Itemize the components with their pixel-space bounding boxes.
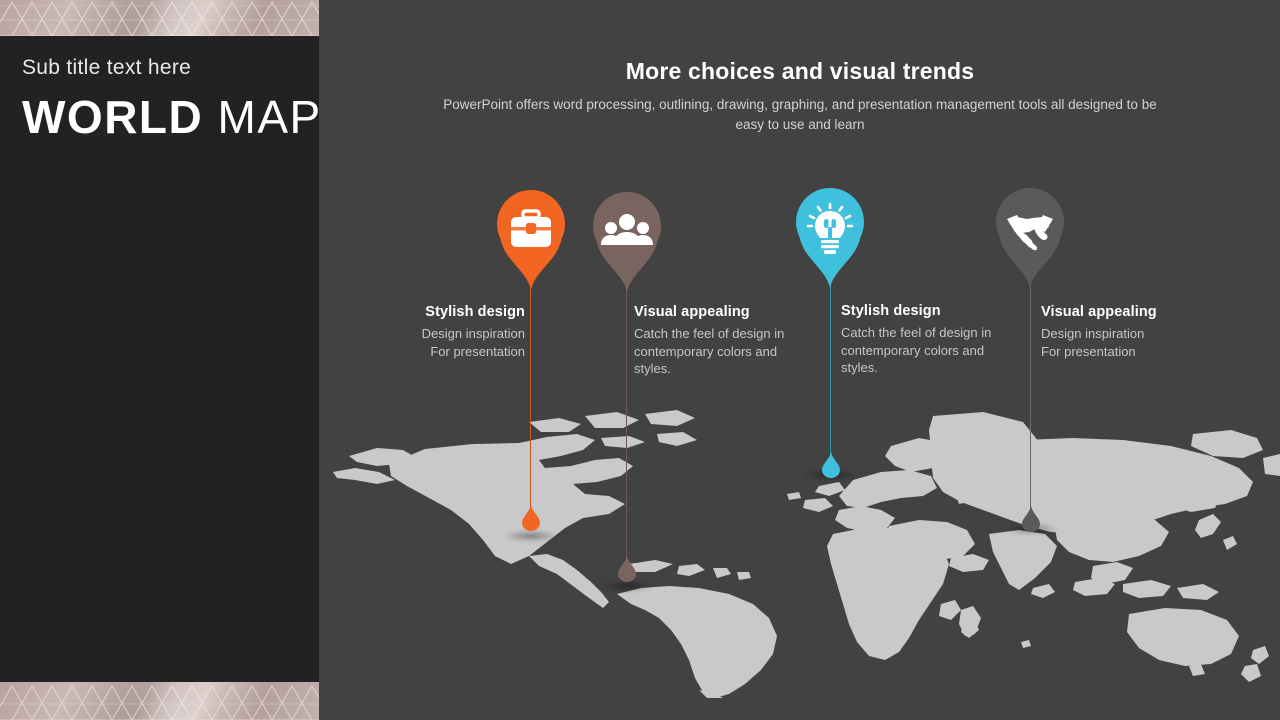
slide-root: Sub title text here WORLD MAP: [0, 0, 1280, 720]
marker-drop-1: [522, 505, 540, 531]
marker-stem-3: [830, 268, 831, 464]
marker-title-3: Stylish design: [841, 302, 1016, 320]
marker-stem-4: [1030, 268, 1031, 518]
marker-body-4-line2: For presentation: [1041, 343, 1216, 361]
marker-stem-2: [626, 272, 627, 575]
markers-layer: Stylish design Design inspiration For pr…: [0, 0, 1280, 720]
marker-pin-4[interactable]: [996, 193, 1064, 288]
marker-title-1: Stylish design: [380, 303, 525, 321]
marker-pin-3[interactable]: [796, 193, 864, 288]
marker-caption-3: Stylish design Catch the feel of design …: [841, 302, 1016, 377]
marker-title-4: Visual appealing: [1041, 303, 1216, 321]
marker-drop-3: [822, 452, 840, 478]
marker-caption-2: Visual appealing Catch the feel of desig…: [634, 303, 809, 378]
marker-drop-shadow-1: [505, 531, 557, 541]
marker-body-4-line1: Design inspiration: [1041, 325, 1216, 343]
marker-drop-4: [1022, 506, 1040, 532]
marker-stem-1: [530, 270, 531, 525]
marker-body-3: Catch the feel of design in contemporary…: [841, 324, 1016, 377]
marker-pin-2[interactable]: [593, 197, 661, 292]
marker-title-2: Visual appealing: [634, 303, 809, 321]
marker-body-1-line2: For presentation: [380, 343, 525, 361]
marker-drop-2: [618, 556, 636, 582]
marker-body-2: Catch the feel of design in contemporary…: [634, 325, 809, 378]
marker-drop-shadow-2: [601, 581, 653, 591]
marker-body-1-line1: Design inspiration: [380, 325, 525, 343]
marker-caption-4: Visual appealing Design inspiration For …: [1041, 303, 1216, 360]
marker-pin-1[interactable]: [497, 195, 565, 290]
marker-caption-1: Stylish design Design inspiration For pr…: [380, 303, 525, 360]
